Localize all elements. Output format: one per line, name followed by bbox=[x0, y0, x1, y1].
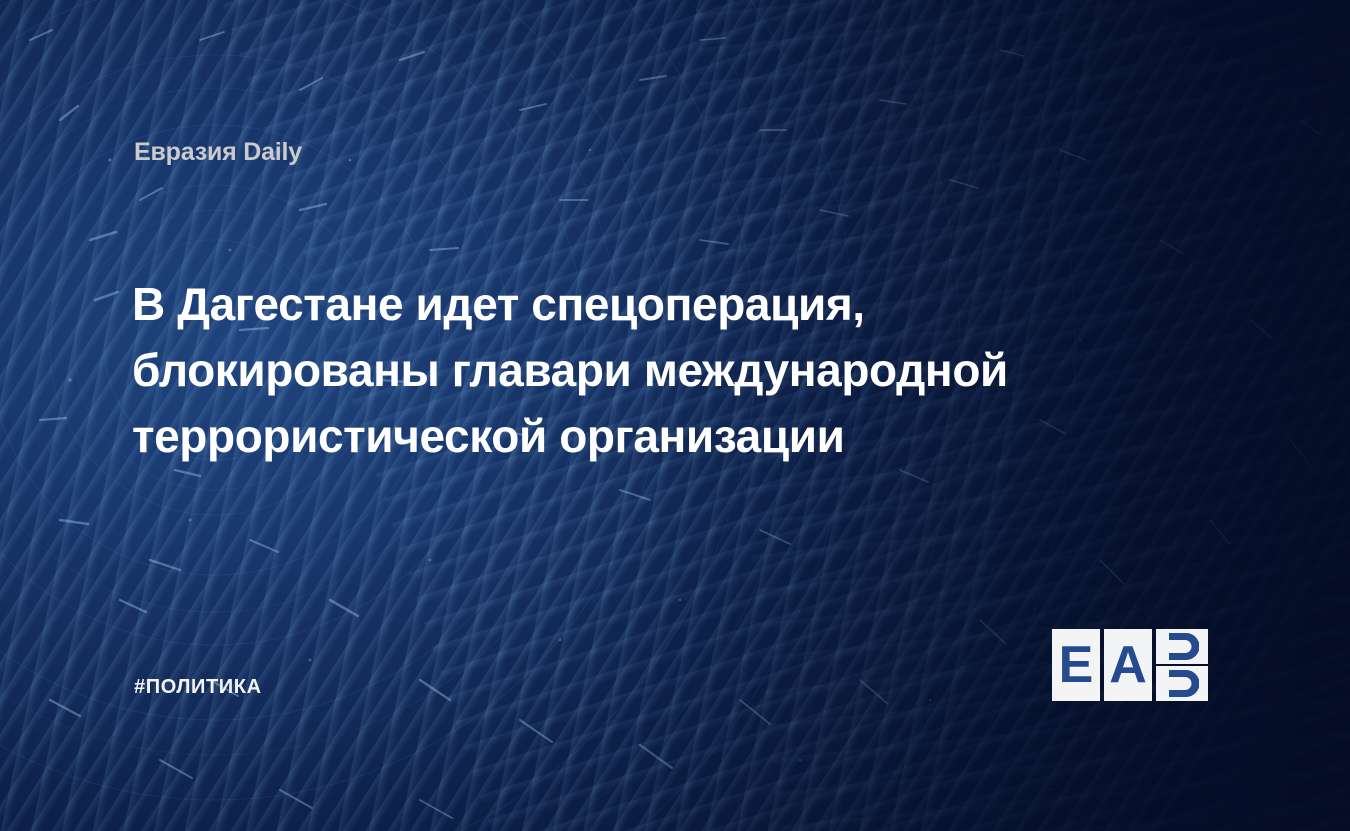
headline-line-1: В Дагестане идет спецоперация, bbox=[132, 272, 1202, 338]
eadaily-logo[interactable]: E A bbox=[1052, 629, 1208, 701]
letter-d-mirrored-icon bbox=[1165, 633, 1199, 660]
logo-tile-a: A bbox=[1104, 629, 1152, 701]
logo-tile-stack bbox=[1156, 629, 1208, 701]
site-brand-name: Евразия Daily bbox=[134, 138, 302, 167]
logo-tile-d-top bbox=[1156, 629, 1208, 664]
news-card: Евразия Daily В Дагестане идет спецопера… bbox=[0, 0, 1350, 831]
category-tag[interactable]: #ПОЛИТИКА bbox=[134, 676, 262, 699]
card-content: Евразия Daily В Дагестане идет спецопера… bbox=[0, 0, 1350, 831]
logo-letter-a: A bbox=[1109, 639, 1147, 691]
logo-tile-e: E bbox=[1052, 629, 1100, 701]
headline-line-2: блокированы главари международной bbox=[132, 338, 1202, 404]
logo-letter-e: E bbox=[1059, 639, 1094, 691]
letter-d-mirrored-icon bbox=[1165, 670, 1199, 697]
logo-tile-d-bottom bbox=[1156, 666, 1208, 701]
headline: В Дагестане идет спецоперация, блокирова… bbox=[132, 272, 1202, 469]
headline-line-3: террористической организации bbox=[132, 404, 1202, 470]
